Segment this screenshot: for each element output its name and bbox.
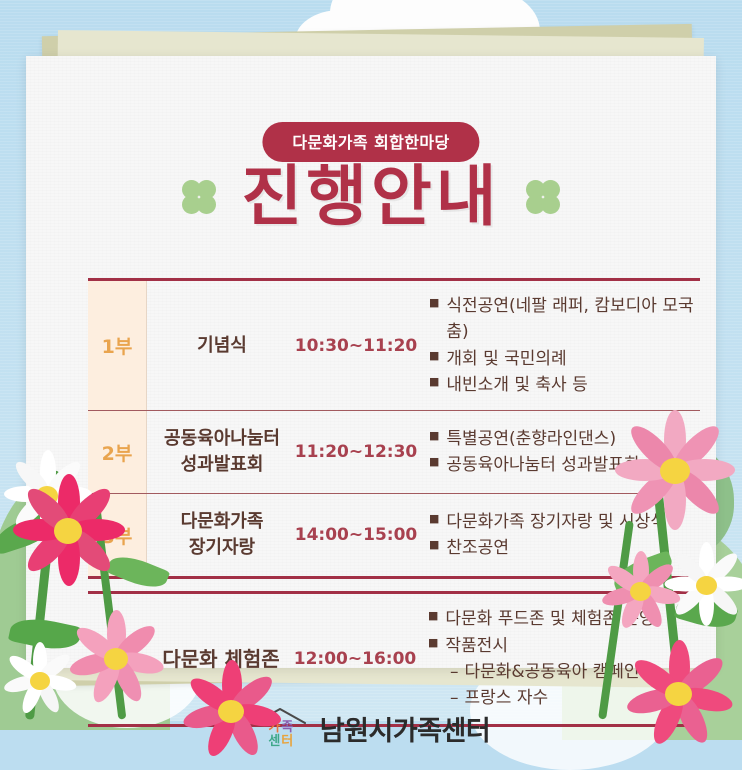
page-title: 진행안내 [242,164,501,230]
detail-item: ■ 식전공연(네팔 래퍼, 캄보디아 모국춤) [429,293,694,346]
footer-logo-row: 가 족 센 터 남원시가족센터 [26,706,716,750]
row-time-cell: 10:30~11:20 [297,281,415,410]
program-name-line: 성과발표회 [181,452,264,478]
clover-icon [182,180,216,214]
bullet-square-icon: ■ [429,535,439,556]
program-name-line: 공동육아나눔터 [164,426,280,452]
detail-text: 개회 및 국민의례 [446,346,566,372]
row-time-cell: 14:00~15:00 [297,494,415,576]
table-row: 1부 기념식 10:30~11:20 ■ 식전공연(네팔 래퍼, 캄보디아 모국… [88,281,700,410]
bullet-square-icon: ■ [429,346,439,367]
bullet-square-icon: ■ [429,509,439,530]
row-name-cell: 공동육아나눔터 성과발표회 [147,411,297,493]
bullet-square-icon: ■ [429,372,439,393]
row-part-cell: 1부 [88,281,147,410]
part-label: 2부 [102,439,133,466]
table-row: 2부 공동육아나눔터 성과발표회 11:20~12:30 ■ 특별공연(춘향라인… [88,410,700,493]
dash-icon: – [450,659,459,685]
program-name-line: 다문화가족 [181,509,264,535]
title-row: 진행안내 [26,164,716,230]
program-block-parts: 1부 기념식 10:30~11:20 ■ 식전공연(네팔 래퍼, 캄보디아 모국… [88,278,700,579]
event-ribbon-label: 다문화가족 회합한마당 [262,122,479,162]
detail-text: 식전공연(네팔 래퍼, 캄보디아 모국춤) [446,293,694,346]
cosmos-flower [8,470,128,590]
bullet-square-icon: ■ [428,633,438,654]
detail-text: 찬조공연 [446,535,509,561]
row-time-cell: 12:00~16:00 [296,594,414,723]
row-name-cell: 다문화가족 장기자랑 [147,494,297,576]
cosmos-flower [620,636,738,754]
detail-item: ■ 내빈소개 및 축사 등 [429,372,694,398]
cosmos-flower [610,406,738,534]
daisy-flower [660,540,742,632]
row-detail-cell: ■ 식전공연(네팔 래퍼, 캄보디아 모국춤) ■ 개회 및 국민의례 ■ 내빈… [415,281,700,410]
detail-text: 내빈소개 및 축사 등 [446,372,587,398]
daisy-flower [0,640,80,720]
organization-name: 남원시가족센터 [320,709,490,748]
detail-item: ■ 개회 및 국민의례 [429,346,694,372]
detail-text: 작품전시 [445,633,508,659]
clover-icon [526,180,560,214]
row-time-cell: 11:20~12:30 [297,411,415,493]
bullet-square-icon: ■ [428,606,438,627]
detail-text: 특별공연(춘향라인댄스) [446,426,616,452]
bullet-square-icon: ■ [429,452,439,473]
part-label: 1부 [102,332,133,359]
program-name-line: 기념식 [197,333,247,359]
cosmos-flower [176,656,286,766]
bullet-square-icon: ■ [429,426,439,447]
bullet-square-icon: ■ [429,293,439,314]
program-name-line: 장기자랑 [189,535,255,561]
row-name-cell: 기념식 [147,281,297,410]
